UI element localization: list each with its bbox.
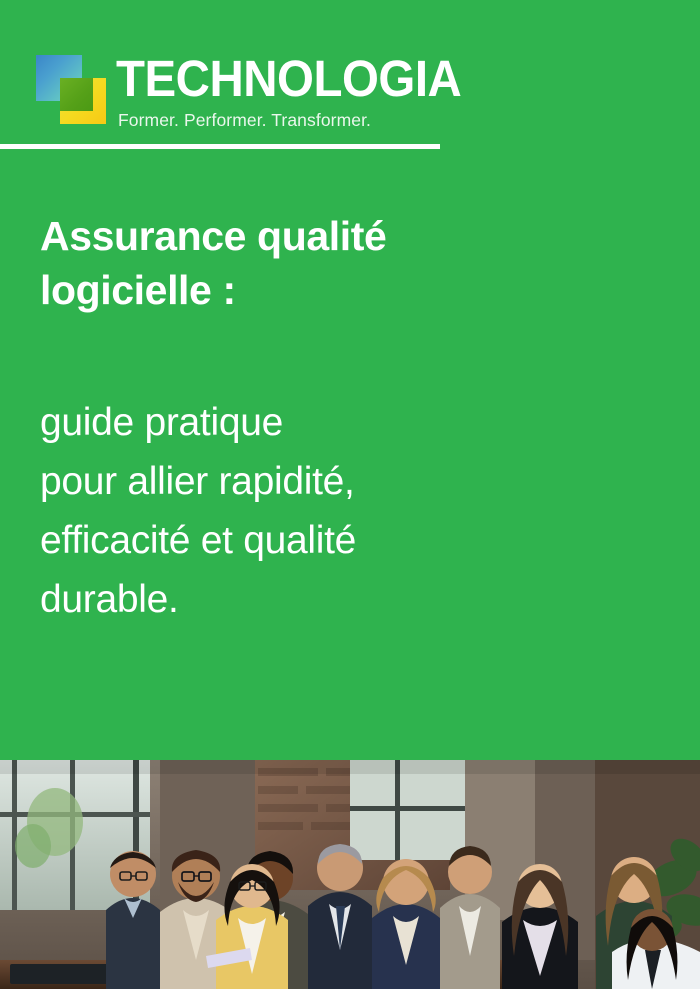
- page-subtitle: guide pratique pour allier rapidité, eff…: [40, 393, 540, 629]
- logo-green-square-icon: [60, 78, 93, 111]
- technologia-logo-mark-icon: [34, 52, 106, 130]
- brand-tagline: Former. Performer. Transformer.: [118, 110, 487, 130]
- subtitle-line-3: efficacité et qualité: [40, 511, 540, 570]
- cover-page: TECHNOLOGIA Former. Performer. Transform…: [0, 0, 700, 989]
- subtitle-line-2: pour allier rapidité,: [40, 452, 540, 511]
- page-title: Assurance qualité logicielle :: [40, 209, 520, 317]
- title-line-2: logicielle :: [40, 263, 520, 317]
- team-group-photo: [0, 760, 700, 989]
- brand-text-group: TECHNOLOGIA Former. Performer. Transform…: [116, 52, 487, 130]
- title-line-1: Assurance qualité: [40, 209, 520, 263]
- brand-header: TECHNOLOGIA Former. Performer. Transform…: [34, 52, 487, 130]
- subtitle-line-4: durable.: [40, 570, 540, 629]
- header-divider: [0, 144, 440, 149]
- brand-wordmark: TECHNOLOGIA: [116, 53, 461, 105]
- subtitle-line-1: guide pratique: [40, 393, 540, 452]
